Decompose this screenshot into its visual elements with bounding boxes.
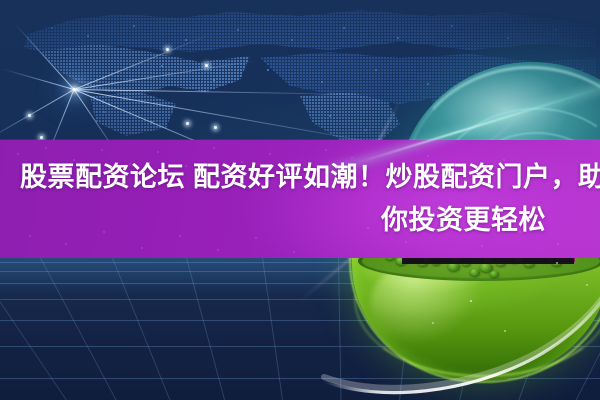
network-hub-node (73, 88, 76, 91)
headline-text-block: 股票配资论坛 配资好评如潮！炒股配资门户，助 你投资更轻松 (0, 140, 600, 258)
headline-line-2: 你投资更轻松 (20, 199, 572, 242)
headline-line-1: 股票配资论坛 配资好评如潮！炒股配资门户，助 (20, 156, 572, 199)
green-hemisphere (352, 255, 600, 387)
banner-image: 股票配资论坛 配资好评如潮！炒股配资门户，助 你投资更轻松 (0, 0, 600, 400)
